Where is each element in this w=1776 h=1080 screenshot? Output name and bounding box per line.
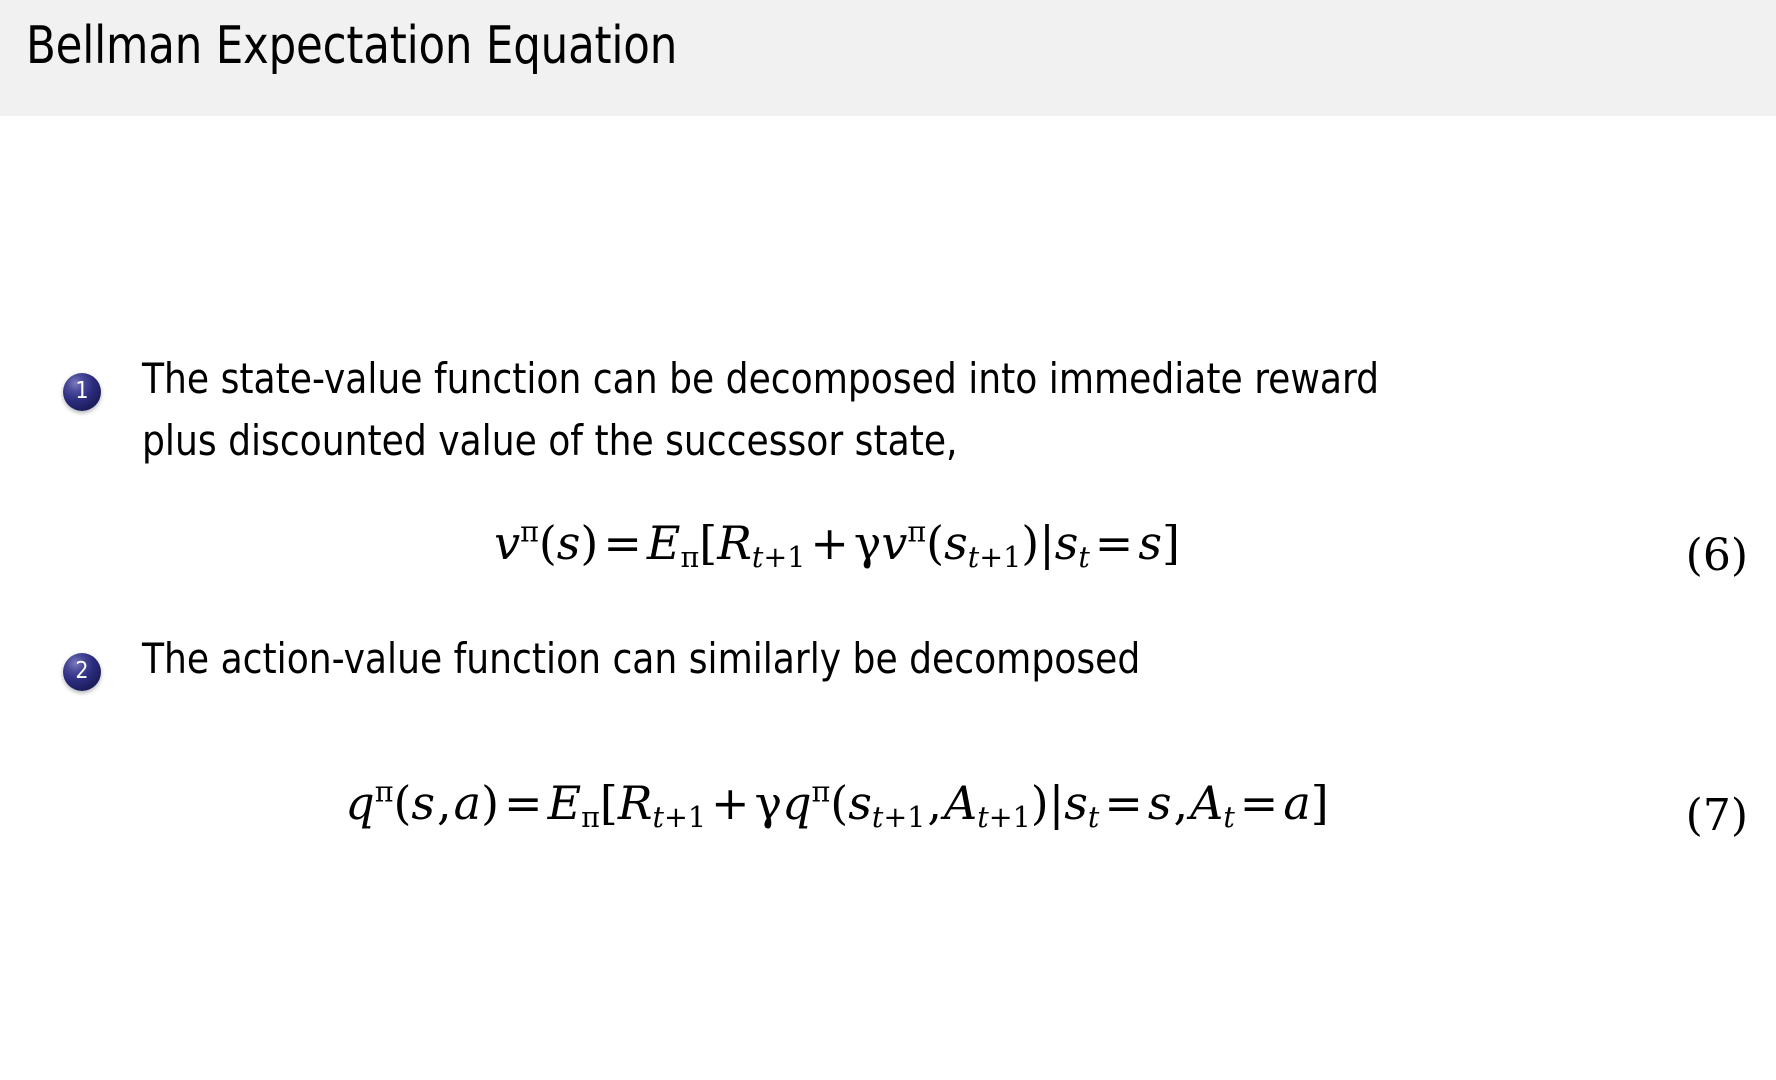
eq6-s-val: s bbox=[1138, 516, 1162, 570]
eq7-s-next-sub-t: t bbox=[872, 801, 883, 834]
list-item-line: The state-value function can be decompos… bbox=[142, 348, 1379, 409]
eq6-R-sub-t: t bbox=[752, 541, 763, 574]
eq7-bracket-close: ] bbox=[1311, 776, 1329, 830]
eq6-paren-open: ( bbox=[539, 516, 557, 570]
eq7-R-sub-t: t bbox=[653, 801, 664, 834]
eq7-s-next-sub-n: 1 bbox=[907, 801, 925, 834]
eq7-pi-sup: π bbox=[375, 775, 394, 808]
eq6-R: R bbox=[717, 516, 752, 570]
equation-7-expression: qπ(s,a)=Eπ[Rt+1+γqπ(st+1,At+1)|st=s,At=a… bbox=[0, 776, 1674, 830]
equation-number-7: (7) bbox=[1686, 790, 1748, 841]
eq6-equals: = bbox=[598, 516, 647, 570]
eq7-s-cond-sub: t bbox=[1088, 801, 1099, 834]
eq6-s-next-sub-t: t bbox=[968, 541, 979, 574]
eq6-paren-open2: ( bbox=[926, 516, 944, 570]
eq7-a-val: a bbox=[1283, 776, 1310, 830]
eq6-plus: + bbox=[805, 516, 854, 570]
eq6-s-next: s bbox=[944, 516, 968, 570]
eq6-paren-close2: ) bbox=[1021, 516, 1039, 570]
eq7-A-next-sub-n: 1 bbox=[1013, 801, 1031, 834]
eq7-A-next: A bbox=[944, 776, 977, 830]
eq7-paren-close2: ) bbox=[1031, 776, 1049, 830]
list-item-line: The action-value function can similarly … bbox=[142, 628, 1140, 689]
eq7-plus: + bbox=[706, 776, 755, 830]
slide-header: Bellman Expectation Equation bbox=[0, 0, 1776, 116]
eq7-bracket-open: [ bbox=[600, 776, 618, 830]
eq6-R-sub-op: + bbox=[763, 541, 787, 574]
slide-content: 1 The state-value function can be decomp… bbox=[0, 116, 1776, 1080]
eq6-pi-sub: π bbox=[681, 541, 700, 574]
equation-6-expression: vπ(s)=Eπ[Rt+1+γvπ(st+1)|st=s] bbox=[0, 516, 1674, 570]
eq7-given: | bbox=[1049, 776, 1065, 830]
eq6-given: | bbox=[1039, 516, 1055, 570]
list-item-line: plus discounted value of the successor s… bbox=[142, 410, 958, 471]
eq6-bracket-close: ] bbox=[1162, 516, 1180, 570]
eq7-s: s bbox=[411, 776, 435, 830]
eq7-A-next-sub-t: t bbox=[977, 801, 988, 834]
eq6-equals2: = bbox=[1090, 516, 1139, 570]
equation-row-7: qπ(s,a)=Eπ[Rt+1+γqπ(st+1,At+1)|st=s,At=a… bbox=[0, 776, 1776, 872]
eq7-equals: = bbox=[499, 776, 548, 830]
eq7-comma2: , bbox=[925, 776, 944, 830]
eq7-A-next-sub-op: + bbox=[989, 801, 1013, 834]
eq6-s-cond-sub: t bbox=[1078, 541, 1089, 574]
equation-row-6: vπ(s)=Eπ[Rt+1+γvπ(st+1)|st=s] (6) bbox=[0, 516, 1776, 612]
eq7-R: R bbox=[618, 776, 653, 830]
eq7-A-cond-sub: t bbox=[1223, 801, 1234, 834]
eq6-gamma: γ bbox=[854, 516, 882, 570]
eq6-s-cond: s bbox=[1055, 516, 1079, 570]
eq7-equals3: = bbox=[1235, 776, 1284, 830]
eq7-a: a bbox=[454, 776, 481, 830]
equation-number-6: (6) bbox=[1686, 530, 1748, 581]
eq6-s-next-sub-n: 1 bbox=[1003, 541, 1021, 574]
eq7-pi-sup2: π bbox=[812, 775, 831, 808]
eq7-R-sub-op: + bbox=[664, 801, 688, 834]
eq7-paren-open2: ( bbox=[830, 776, 848, 830]
eq7-s-next-sub-op: + bbox=[883, 801, 907, 834]
eq6-E: E bbox=[647, 516, 681, 570]
eq7-q2: q bbox=[782, 776, 811, 830]
eq6-pi-sup2: π bbox=[907, 515, 926, 548]
eq7-q: q bbox=[345, 776, 374, 830]
eq7-gamma: γ bbox=[755, 776, 783, 830]
eq7-comma: , bbox=[435, 776, 454, 830]
eq7-paren-close: ) bbox=[481, 776, 499, 830]
eq7-s-val: s bbox=[1148, 776, 1172, 830]
eq7-s-next: s bbox=[848, 776, 872, 830]
eq6-R-sub-n: 1 bbox=[787, 541, 805, 574]
eq6-bracket-open: [ bbox=[699, 516, 717, 570]
eq6-s: s bbox=[557, 516, 581, 570]
eq7-s-cond: s bbox=[1064, 776, 1088, 830]
eq7-A-cond: A bbox=[1190, 776, 1223, 830]
eq7-paren-open: ( bbox=[393, 776, 411, 830]
eq6-s-next-sub-op: + bbox=[979, 541, 1003, 574]
eq6-pi-sup: π bbox=[520, 515, 539, 548]
eq7-comma3: , bbox=[1171, 776, 1190, 830]
eq7-pi-sub: π bbox=[581, 801, 600, 834]
eq7-R-sub-n: 1 bbox=[688, 801, 706, 834]
eq6-paren-close: ) bbox=[580, 516, 598, 570]
page-title: Bellman Expectation Equation bbox=[26, 16, 677, 76]
eq7-E: E bbox=[548, 776, 582, 830]
eq6-v: v bbox=[494, 516, 520, 570]
enumerate-bullet-2: 2 bbox=[63, 653, 101, 691]
eq6-v2: v bbox=[881, 516, 907, 570]
eq7-equals2: = bbox=[1099, 776, 1148, 830]
enumerate-bullet-1: 1 bbox=[63, 373, 101, 411]
